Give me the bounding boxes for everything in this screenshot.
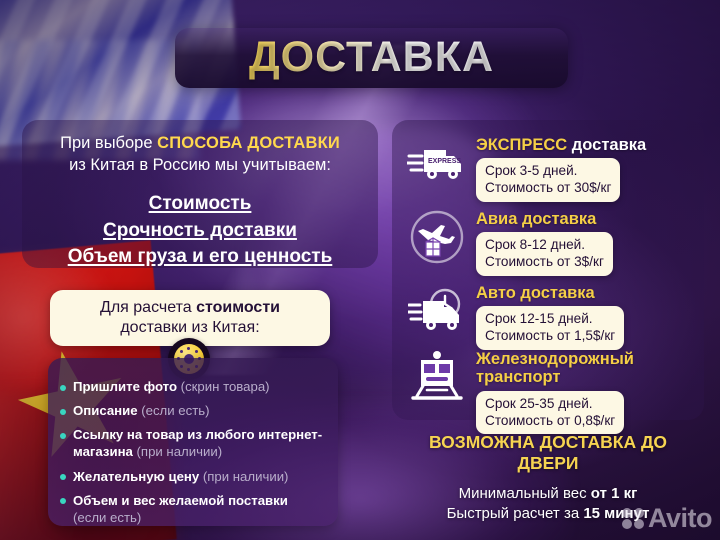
delivery-method-body: ЭКСПРЕСС доставка Срок 3-5 дней. Стоимос… — [476, 134, 646, 202]
list-item-note: (скрин товара) — [181, 379, 270, 394]
avito-watermark-text: Avito — [648, 505, 712, 532]
delivery-method-title: Авто доставка — [476, 284, 624, 302]
list-item-bold: Объем и вес желаемой поставки — [73, 493, 288, 508]
list-item-bold: Пришлите фото — [73, 379, 181, 394]
list-item: Желательную цену (при наличии) — [60, 468, 324, 485]
avito-logo-dots — [622, 508, 645, 529]
min-weight-label: Минимальный вес — [459, 485, 591, 502]
bullet-dot-icon — [60, 498, 66, 504]
delivery-method-title-accent: ЭКСПРЕСС — [476, 136, 567, 154]
delivery-method-title: Железнодорожный транспорт — [476, 350, 646, 387]
delivery-method-price: Стоимость от 30$/кг — [485, 179, 611, 196]
delivery-method-title-accent: Авиа доставка — [476, 210, 596, 228]
door-promo-title-line-1: ВОЗМОЖНА ДОСТАВКА ДО — [398, 432, 698, 453]
delivery-method-details: Срок 8-12 дней. Стоимость от 3$/кг — [476, 232, 613, 276]
bullet-dot-icon — [60, 385, 66, 391]
list-item: Пришлите фото (скрин товара) — [60, 378, 324, 395]
page-title: ДОСТАВКА — [249, 36, 494, 81]
intro-line-2: из Китая в Россию мы учитываем: — [32, 154, 368, 176]
delivery-method-body: Авиа доставка Срок 8-12 дней. Стоимость … — [476, 208, 613, 276]
calc-line-1-plain: Для расчета — [100, 299, 196, 316]
express-truck-icon: EXPRESS — [406, 134, 468, 192]
intro-panel: При выборе СПОСОБА ДОСТАВКИ из Китая в Р… — [22, 120, 378, 268]
list-item-bold: Описание — [73, 403, 141, 418]
delivery-method-details: Срок 12-15 дней. Стоимость от 1,5$/кг — [476, 306, 624, 350]
calc-line-2: доставки из Китая: — [120, 318, 259, 338]
truck-clock-icon — [406, 282, 468, 340]
requirements-list: Пришлите фото (скрин товара) Описание (е… — [48, 358, 338, 526]
intro-factor-item: Стоимость — [32, 191, 368, 218]
delivery-method-title-plain: доставка — [567, 136, 646, 154]
min-weight-line: Минимальный вес от 1 кг — [398, 484, 698, 504]
delivery-method-air: Авиа доставка Срок 8-12 дней. Стоимость … — [406, 208, 613, 276]
intro-factor-list: Стоимость Срочность доставки Объем груза… — [32, 191, 368, 272]
svg-text:EXPRESS: EXPRESS — [428, 158, 461, 165]
poster-title-bar: ДОСТАВКА — [175, 28, 568, 88]
delivery-method-body: Железнодорожный транспорт Срок 25-35 дне… — [476, 348, 646, 434]
delivery-method-rail: Железнодорожный транспорт Срок 25-35 дне… — [406, 348, 646, 434]
list-item: Ссылку на товар из любого интернет-магаз… — [60, 426, 324, 460]
delivery-method-title-accent: Железнодорожный транспорт — [476, 350, 634, 386]
door-promo-title-line-2: ДВЕРИ — [398, 453, 698, 474]
delivery-method-term: Срок 25-35 дней. — [485, 395, 615, 412]
calc-line-1: Для расчета стоимости — [100, 298, 280, 318]
avito-watermark: Avito — [622, 505, 712, 532]
list-item: Объем и вес желаемой поставки (если есть… — [60, 492, 324, 526]
bullet-dot-icon — [60, 474, 66, 480]
delivery-poster: ДОСТАВКА При выборе СПОСОБА ДОСТАВКИ из … — [0, 0, 720, 540]
delivery-method-term: Срок 12-15 дней. — [485, 310, 615, 327]
delivery-method-term: Срок 8-12 дней. — [485, 236, 604, 253]
list-item-note: (если есть) — [73, 510, 141, 525]
bullet-dot-icon — [60, 409, 66, 415]
list-item-text: Пришлите фото (скрин товара) — [73, 378, 270, 395]
calc-line-1-highlight: стоимости — [196, 299, 280, 316]
bullet-dot-icon — [60, 433, 66, 439]
delivery-method-body: Авто доставка Срок 12-15 дней. Стоимость… — [476, 282, 624, 350]
delivery-method-title: Авиа доставка — [476, 210, 613, 228]
intro-line-1-highlight: СПОСОБА ДОСТАВКИ — [157, 134, 340, 152]
delivery-method-title: ЭКСПРЕСС доставка — [476, 136, 646, 154]
delivery-method-title-accent: Авто доставка — [476, 284, 595, 302]
avito-logo-icon — [622, 508, 645, 529]
delivery-method-price: Стоимость от 3$/кг — [485, 253, 604, 270]
plane-parcel-icon — [406, 208, 468, 266]
quote-time-label: Быстрый расчет за — [447, 505, 584, 522]
delivery-method-details: Срок 25-35 дней. Стоимость от 0,8$/кг — [476, 391, 624, 435]
delivery-methods-panel: EXPRESS ЭКСПРЕСС доставка Срок 3-5 дней.… — [392, 120, 704, 420]
intro-line-1-plain: При выборе — [60, 134, 157, 152]
delivery-method-details: Срок 3-5 дней. Стоимость от 30$/кг — [476, 158, 620, 202]
intro-line-1: При выборе СПОСОБА ДОСТАВКИ — [32, 132, 368, 154]
delivery-method-term: Срок 3-5 дней. — [485, 162, 611, 179]
list-item: Описание (если есть) — [60, 402, 324, 419]
list-item-text: Описание (если есть) — [73, 402, 210, 419]
delivery-method-auto: Авто доставка Срок 12-15 дней. Стоимость… — [406, 282, 624, 350]
list-item-bold: Желательную цену — [73, 469, 203, 484]
list-item-note: (если есть) — [141, 403, 209, 418]
min-weight-value: от 1 кг — [591, 485, 638, 502]
list-item-note: (при наличии) — [203, 469, 289, 484]
train-icon — [406, 348, 468, 406]
list-item-text: Желательную цену (при наличии) — [73, 468, 288, 485]
list-item-text: Объем и вес желаемой поставки (если есть… — [73, 492, 324, 526]
delivery-method-price: Стоимость от 1,5$/кг — [485, 327, 615, 344]
intro-factor-item: Срочность доставки — [32, 218, 368, 245]
intro-factor-item: Объем груза и его ценность — [32, 244, 368, 271]
delivery-method-price: Стоимость от 0,8$/кг — [485, 412, 615, 429]
list-item-text: Ссылку на товар из любого интернет-магаз… — [73, 426, 324, 460]
list-item-note: (при наличии) — [137, 444, 223, 459]
delivery-method-express: EXPRESS ЭКСПРЕСС доставка Срок 3-5 дней.… — [406, 134, 646, 202]
